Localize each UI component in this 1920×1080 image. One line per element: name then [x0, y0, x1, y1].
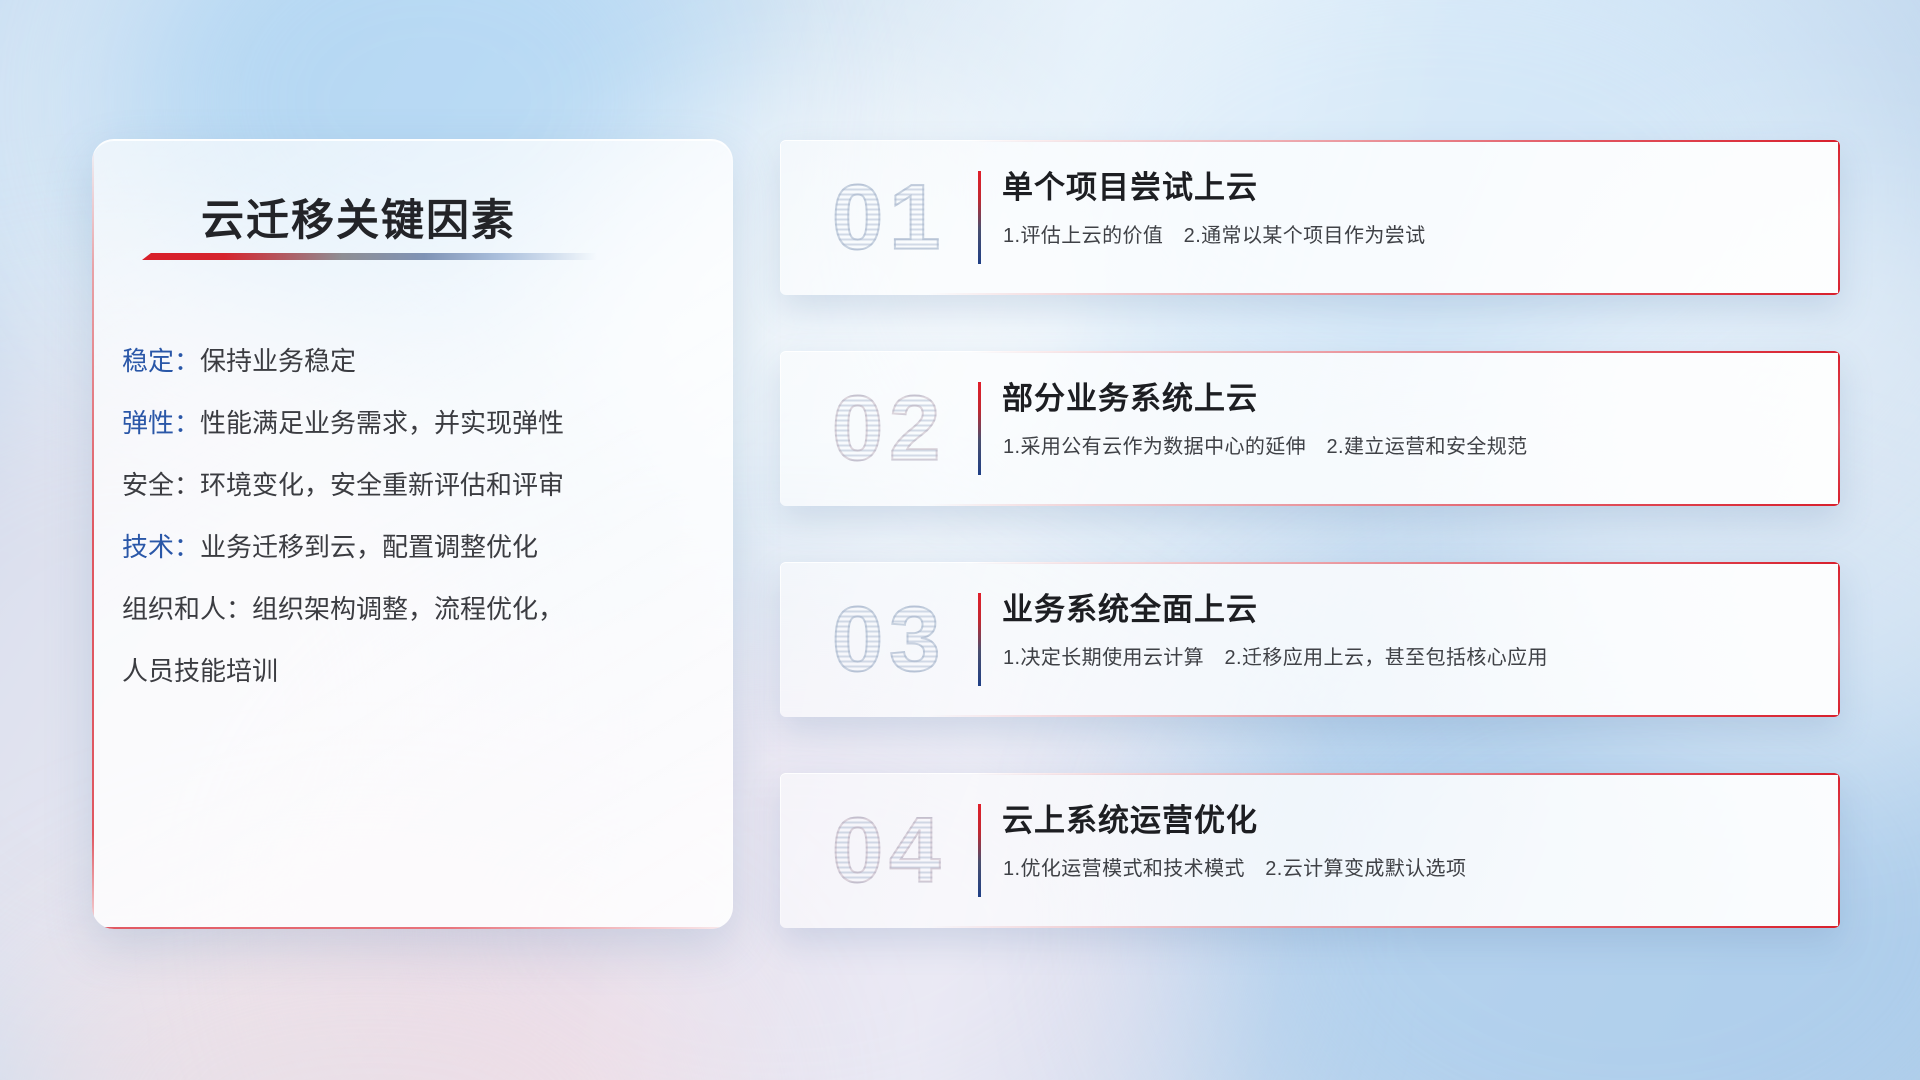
- list-item-text: 组织架构调整，流程优化，: [252, 594, 564, 624]
- stage-title: 云上系统运营优化: [1002, 795, 1258, 840]
- stage-divider-bar: [978, 382, 981, 475]
- stage-card-04[interactable]: 04 云上系统运营优化 1.优化运营模式和技术模式 2.云计算变成默认选项: [780, 773, 1840, 928]
- list-item-text: 性能满足业务需求，并实现弹性: [200, 408, 564, 438]
- stage-card-02[interactable]: 02 部分业务系统上云 1.采用公有云作为数据中心的延伸 2.建立运营和安全规范: [780, 351, 1840, 506]
- key-factors-list: 稳定：保持业务稳定 弹性：性能满足业务需求，并实现弹性 安全：环境变化，安全重新…: [122, 330, 706, 702]
- card-bottom-accent-border: [928, 504, 1840, 506]
- stage-card-03[interactable]: 03 业务系统全面上云 1.决定长期使用云计算 2.迁移应用上云，甚至包括核心应…: [780, 562, 1840, 717]
- card-bottom-accent-border: [928, 293, 1840, 295]
- list-item-text: 保持业务稳定: [200, 346, 356, 376]
- stage-divider-bar: [978, 804, 981, 897]
- card-right-accent-border: [1838, 140, 1840, 295]
- stage-number: 03: [832, 587, 946, 692]
- list-item: 技术：业务迁移到云，配置调整优化: [122, 516, 706, 578]
- list-item: 弹性：性能满足业务需求，并实现弹性: [122, 392, 706, 454]
- page-title: 云迁移关键因素: [201, 186, 516, 248]
- stage-description: 1.决定长期使用云计算 2.迁移应用上云，甚至包括核心应用: [1003, 641, 1548, 670]
- stage-title: 部分业务系统上云: [1002, 373, 1258, 418]
- stage-title: 业务系统全面上云: [1002, 584, 1258, 629]
- list-item: 组织和人：组织架构调整，流程优化，: [122, 578, 706, 640]
- list-item-text: 环境变化，安全重新评估和评审: [200, 470, 564, 500]
- list-item-label: 稳定：: [122, 346, 200, 376]
- list-item-label: 弹性：: [122, 408, 200, 438]
- stage-number: 01: [832, 165, 946, 270]
- stage-divider-bar: [978, 593, 981, 686]
- stage-number: 04: [832, 798, 946, 903]
- card-right-accent-border: [1838, 773, 1840, 928]
- list-item-text: 业务迁移到云，配置调整优化: [200, 532, 538, 562]
- list-item-label: 技术：: [122, 532, 200, 562]
- list-item-label: 安全：: [122, 470, 200, 500]
- card-left-edge: [780, 562, 781, 717]
- card-bottom-accent-border: [928, 926, 1840, 928]
- list-item-label: 组织和人：: [122, 594, 252, 624]
- card-left-edge: [780, 140, 781, 295]
- stage-description: 1.采用公有云作为数据中心的延伸 2.建立运营和安全规范: [1003, 430, 1528, 459]
- stage-description: 1.评估上云的价值 2.通常以某个项目作为尝试: [1003, 219, 1426, 248]
- stage-card-01[interactable]: 01 单个项目尝试上云 1.评估上云的价值 2.通常以某个项目作为尝试: [780, 140, 1840, 295]
- card-top-accent-border: [971, 140, 1840, 142]
- stage-description: 1.优化运营模式和技术模式 2.云计算变成默认选项: [1003, 852, 1466, 881]
- card-top-accent-border: [971, 562, 1840, 564]
- card-top-accent-border: [971, 773, 1840, 775]
- card-right-accent-border: [1838, 351, 1840, 506]
- stage-title: 单个项目尝试上云: [1002, 162, 1258, 207]
- stage-divider-bar: [978, 171, 981, 264]
- card-bottom-accent-border: [92, 927, 732, 929]
- card-top-accent-border: [971, 351, 1840, 353]
- card-right-accent-border: [1838, 562, 1840, 717]
- list-item: 人员技能培训: [122, 640, 706, 702]
- card-bottom-accent-border: [928, 715, 1840, 717]
- card-left-edge: [780, 773, 781, 928]
- list-item-text: 人员技能培训: [122, 656, 278, 686]
- stage-number: 02: [832, 376, 946, 481]
- key-factors-card: 云迁移关键因素 稳定：保持业务稳定 弹性：性能满足业务需求，并实现弹性 安全：环…: [92, 139, 733, 929]
- card-left-edge: [780, 351, 781, 506]
- title-underline-gradient: [142, 253, 597, 260]
- card-left-accent-border: [92, 140, 94, 929]
- list-item: 安全：环境变化，安全重新评估和评审: [122, 454, 706, 516]
- list-item: 稳定：保持业务稳定: [122, 330, 706, 392]
